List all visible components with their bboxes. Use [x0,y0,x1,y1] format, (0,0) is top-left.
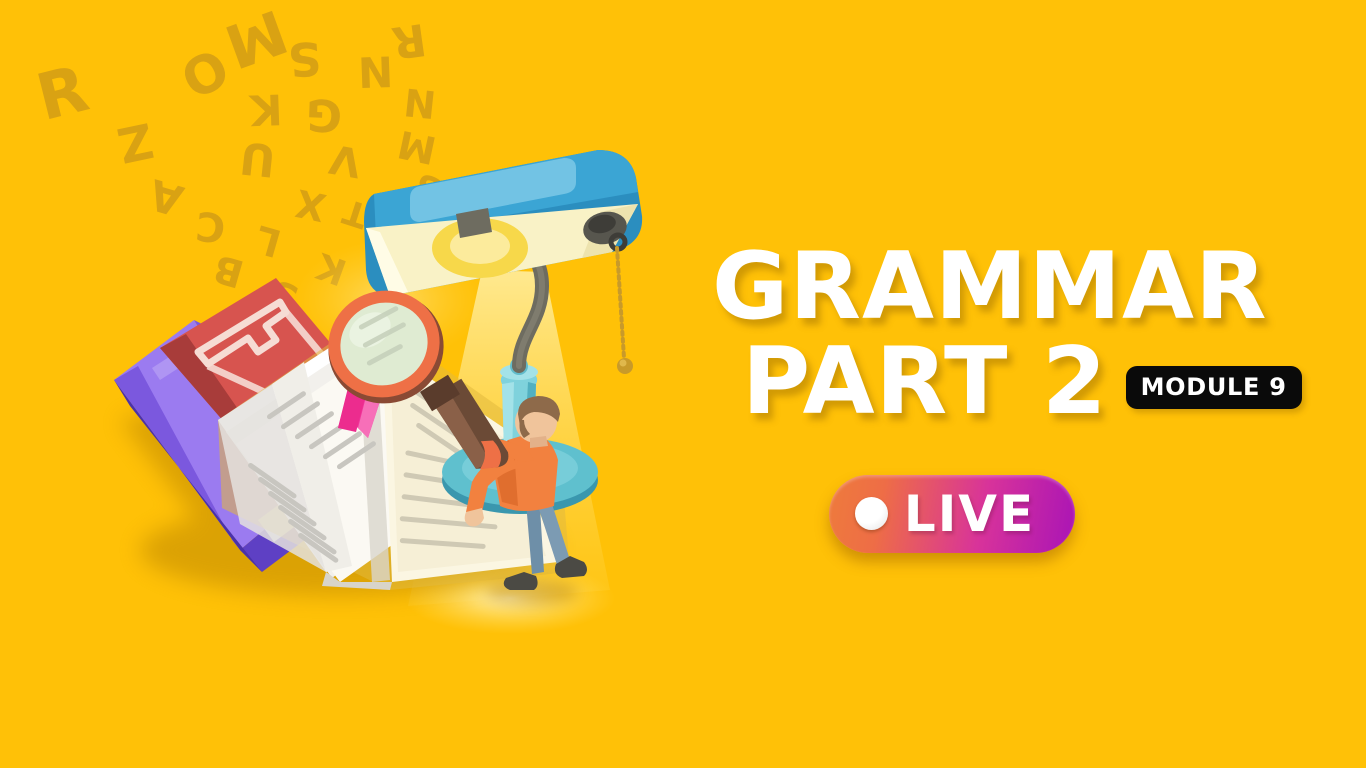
background-letter: S [286,35,322,83]
live-badge[interactable]: LIVE [829,475,1075,553]
background-letter: N [402,82,438,123]
page-title-line-1: GRAMMAR [700,242,1300,331]
books-lamp-reader-illustration [90,120,670,660]
lamp-shade [364,150,642,296]
title-line-2-row: PART 2 MODULE 9 [700,337,1300,426]
page-title-line-2: PART 2 [742,337,1108,426]
poster-canvas: RZAOCBMUKLSSXGKVTNRMNS [0,0,1366,768]
live-dot-icon [855,497,888,530]
text-block: GRAMMAR PART 2 MODULE 9 LIVE [700,242,1300,553]
background-letter: M [218,0,295,76]
live-badge-label: LIVE [904,489,1035,539]
live-badge-wrapper: LIVE [700,475,1300,553]
module-badge: MODULE 9 [1126,366,1302,409]
lamp-pull-chain [617,248,633,374]
background-letter: R [389,16,429,64]
background-letter: O [172,39,235,106]
background-letter: R [31,57,94,131]
background-letter: N [357,49,394,92]
